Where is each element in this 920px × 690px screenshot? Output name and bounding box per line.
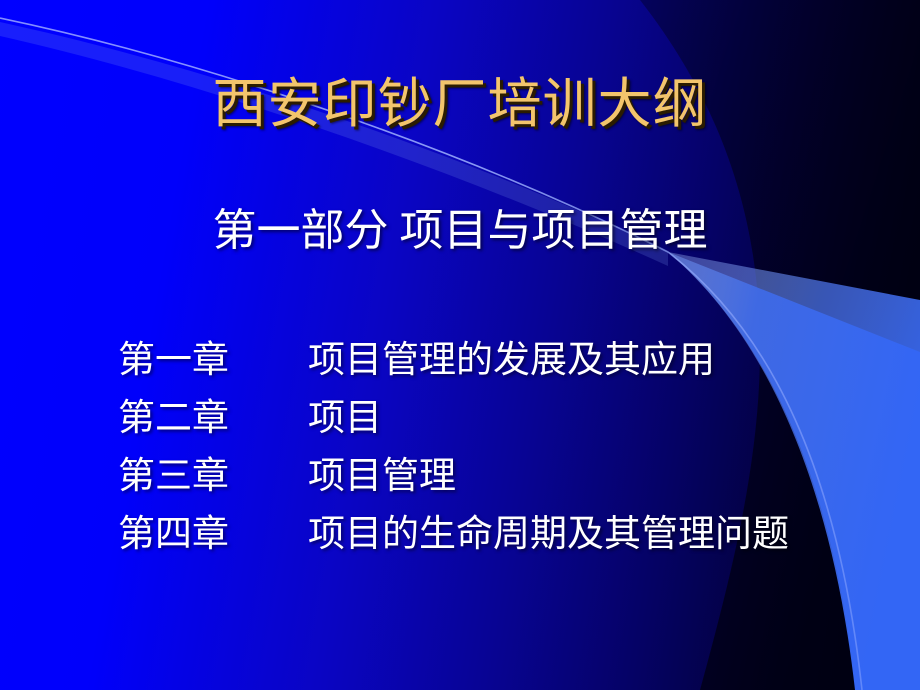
chapter-number: 第一章: [118, 332, 308, 390]
slide-subtitle: 第一部分 项目与项目管理: [0, 207, 920, 255]
list-item: 第三章 项目管理: [118, 448, 908, 506]
chapter-list: 第一章 项目管理的发展及其应用 第二章 项目 第三章 项目管理 第四章 项目的生…: [118, 332, 908, 564]
slide-content: 西安印钞厂培训大纲 第一部分 项目与项目管理 第一章 项目管理的发展及其应用 第…: [0, 0, 920, 690]
chapter-number: 第四章: [118, 506, 308, 564]
presentation-slide: 西安印钞厂培训大纲 第一部分 项目与项目管理 第一章 项目管理的发展及其应用 第…: [0, 0, 920, 690]
chapter-title: 项目管理的发展及其应用: [308, 332, 715, 390]
chapter-title: 项目: [308, 390, 382, 448]
page-title: 西安印钞厂培训大纲: [0, 76, 920, 133]
chapter-number: 第二章: [118, 390, 308, 448]
list-item: 第四章 项目的生命周期及其管理问题: [118, 506, 908, 564]
chapter-title: 项目的生命周期及其管理问题: [308, 506, 789, 564]
chapter-title: 项目管理: [308, 448, 456, 506]
list-item: 第二章 项目: [118, 390, 908, 448]
list-item: 第一章 项目管理的发展及其应用: [118, 332, 908, 390]
chapter-number: 第三章: [118, 448, 308, 506]
